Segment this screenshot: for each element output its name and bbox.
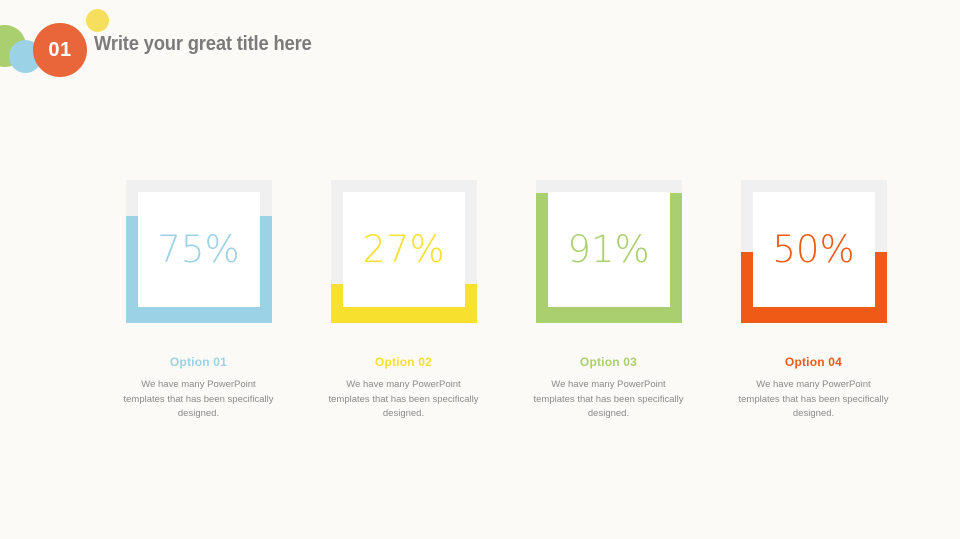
option-card[interactable]: 27% Option 02 We have many PowerPoint te…	[301, 180, 506, 422]
option-description: We have many PowerPoint templates that h…	[124, 378, 274, 422]
option-caption: Option 01 We have many PowerPoint templa…	[96, 355, 301, 422]
option-caption: Option 04 We have many PowerPoint templa…	[711, 355, 916, 422]
gauge-inner-panel: 50%	[753, 192, 875, 307]
option-description: We have many PowerPoint templates that h…	[534, 378, 684, 422]
percent-gauge: 50%	[741, 180, 887, 323]
option-description: We have many PowerPoint templates that h…	[329, 378, 479, 422]
slide-header: 01 Write your great title here	[0, 0, 960, 100]
option-cards-row: 75% Option 01 We have many PowerPoint te…	[0, 180, 960, 422]
percent-gauge: 75%	[126, 180, 272, 323]
option-card[interactable]: 75% Option 01 We have many PowerPoint te…	[96, 180, 301, 422]
option-label: Option 03	[506, 355, 711, 369]
yellow-circle-icon	[86, 9, 109, 32]
percent-value: 27%	[362, 231, 444, 268]
percent-value: 75%	[157, 231, 239, 268]
option-card[interactable]: 50% Option 04 We have many PowerPoint te…	[711, 180, 916, 422]
page-title: Write your great title here	[94, 33, 312, 56]
gauge-inner-panel: 75%	[138, 192, 260, 307]
percent-value: 50%	[772, 231, 854, 268]
gauge-inner-panel: 27%	[343, 192, 465, 307]
option-card[interactable]: 91% Option 03 We have many PowerPoint te…	[506, 180, 711, 422]
option-label: Option 02	[301, 355, 506, 369]
percent-value: 91%	[567, 231, 649, 268]
option-caption: Option 02 We have many PowerPoint templa…	[301, 355, 506, 422]
option-caption: Option 03 We have many PowerPoint templa…	[506, 355, 711, 422]
percent-gauge: 27%	[331, 180, 477, 323]
option-label: Option 01	[96, 355, 301, 369]
option-description: We have many PowerPoint templates that h…	[739, 378, 889, 422]
gauge-inner-panel: 91%	[548, 192, 670, 307]
percent-gauge: 91%	[536, 180, 682, 323]
slide-number-badge: 01	[33, 23, 87, 77]
option-label: Option 04	[711, 355, 916, 369]
